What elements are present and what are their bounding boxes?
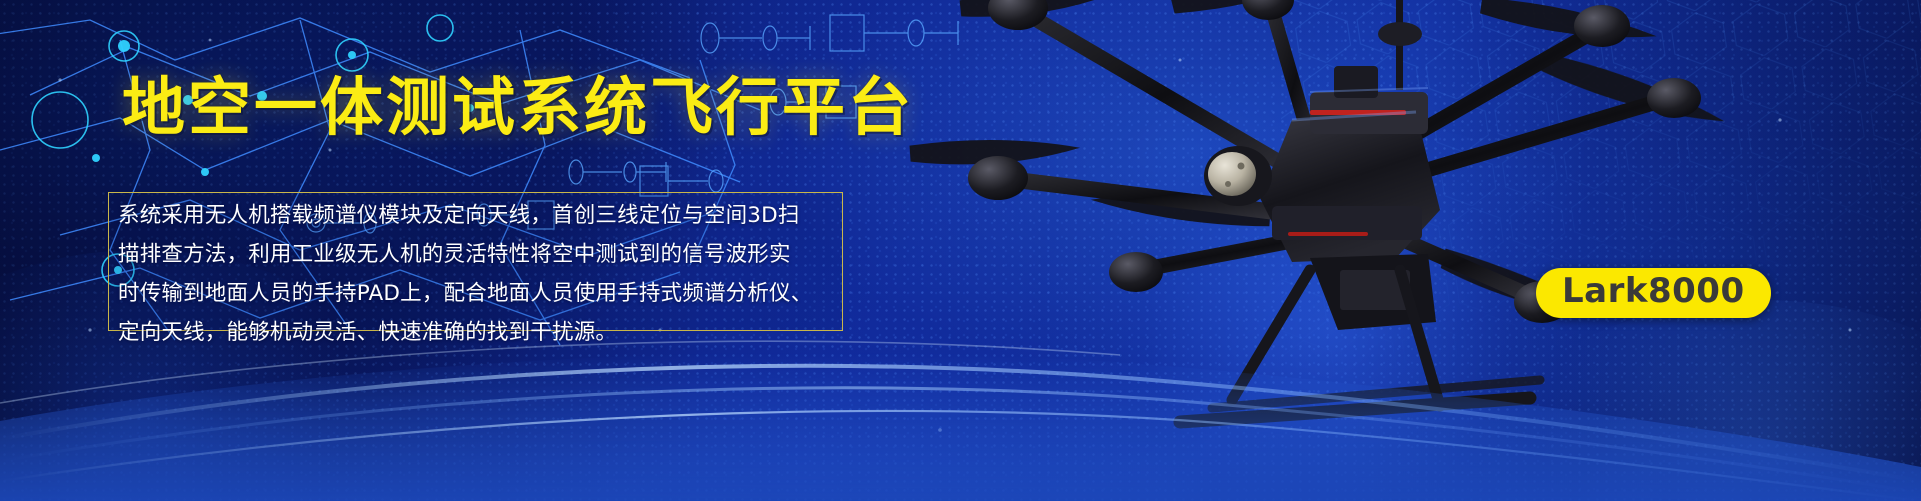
hero-banner: 地空一体测试系统飞行平台 系统采用无人机搭载频谱仪模块及定向天线，首创三线定位与… bbox=[0, 0, 1921, 501]
description-line-1: 系统采用无人机搭载频谱仪模块及定向天线，首创三线定位与空间3D扫 bbox=[118, 196, 846, 235]
hexacopter-drone-photo bbox=[840, 0, 1921, 440]
page-title: 地空一体测试系统飞行平台 bbox=[122, 76, 914, 139]
description-line-3: 时传输到地面人员的手持PAD上，配合地面人员使用手持式频谱分析仪、 bbox=[118, 274, 846, 313]
hexagon-grid-icon bbox=[1281, 0, 1921, 380]
description-text: 系统采用无人机搭载频谱仪模块及定向天线，首创三线定位与空间3D扫 描排查方法，利… bbox=[118, 196, 846, 352]
description-line-2: 描排查方法，利用工业级无人机的灵活特性将空中测试到的信号波形实 bbox=[118, 235, 846, 274]
product-name-badge: Lark8000 bbox=[1536, 268, 1771, 318]
description-line-4: 定向天线，能够机动灵活、快速准确的找到干扰源。 bbox=[118, 313, 846, 352]
glow-highlight-right bbox=[1500, 300, 1921, 501]
